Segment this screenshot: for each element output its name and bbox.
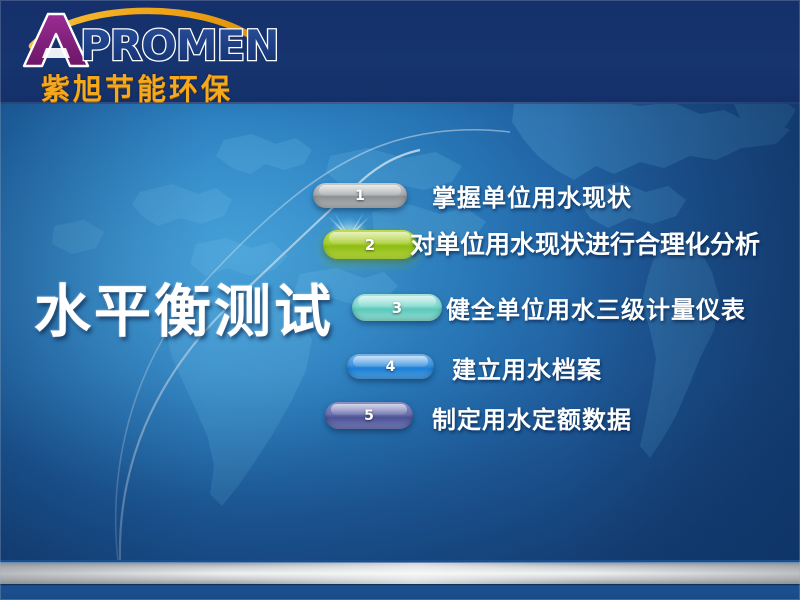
- step-number-1: 1: [355, 188, 365, 204]
- page-title: 水平衡测试: [34, 266, 334, 348]
- step-label-1: 掌握单位用水现状: [432, 178, 632, 213]
- silver-divider-bar: [0, 563, 800, 584]
- silver-bar-bottom-edge: [0, 584, 800, 585]
- step-label-3: 健全单位用水三级计量仪表: [446, 290, 746, 325]
- step-number-2: 2: [365, 236, 375, 254]
- logo-chinese-text: 紫旭节能环保: [41, 66, 233, 104]
- presentation-slide: PROMEN 紫旭节能环保 水平衡测试: [0, 0, 800, 600]
- step-pill-3[interactable]: 3: [352, 294, 442, 321]
- step-pill-4[interactable]: 4: [347, 354, 434, 379]
- step-pill-1[interactable]: 1: [313, 183, 407, 208]
- step-number-3: 3: [392, 299, 402, 317]
- step-label-4: 建立用水档案: [452, 350, 602, 385]
- step-pill-2[interactable]: 2: [323, 230, 417, 259]
- logo-wordmark-text: PROMEN: [80, 21, 278, 70]
- company-logo: PROMEN 紫旭节能环保: [8, 2, 338, 102]
- step-number-4: 4: [386, 359, 396, 375]
- step-label-2: 对单位用水现状进行合理化分析: [410, 225, 760, 261]
- step-number-5: 5: [364, 408, 374, 424]
- logo-mark-and-wordmark: PROMEN: [8, 2, 338, 72]
- step-label-5: 制定用水定额数据: [432, 400, 632, 435]
- step-pill-5[interactable]: 5: [325, 402, 413, 429]
- header-band: PROMEN 紫旭节能环保: [0, 0, 800, 104]
